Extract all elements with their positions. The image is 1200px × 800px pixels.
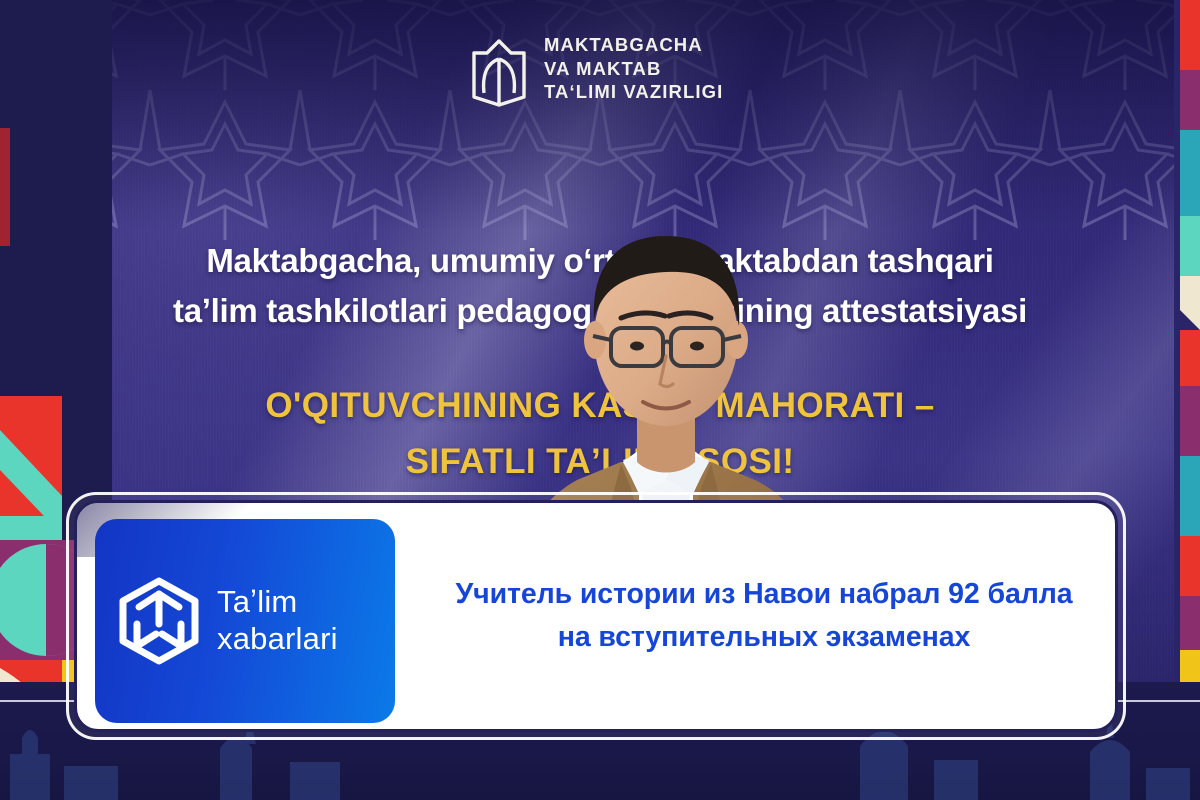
news-card-image: MAKTABGACHA VA MAKTAB TAʻLIMI VAZIRLIGI …	[0, 0, 1200, 800]
brand-tile[interactable]: Taʼlim xabarlari	[95, 519, 395, 723]
ministry-name: MAKTABGACHA VA MAKTAB TAʻLIMI VAZIRLIGI	[544, 33, 723, 104]
isometric-cube-icon	[117, 576, 201, 666]
ministry-line-3: TAʻLIMI VAZIRLIGI	[544, 80, 723, 104]
news-card-body: Taʼlim xabarlari Учитель истории из Наво…	[74, 500, 1118, 732]
news-headline: Учитель истории из Навои набрал 92 балла…	[425, 573, 1115, 659]
brand-line-2: xabarlari	[217, 621, 338, 658]
brand-name: Taʼlim xabarlari	[217, 584, 338, 657]
ministry-logo-lockup: MAKTABGACHA VA MAKTAB TAʻLIMI VAZIRLIGI	[470, 33, 723, 107]
open-book-leaf-icon	[470, 35, 528, 107]
ministry-line-2: VA MAKTAB	[544, 57, 723, 81]
brand-line-1: Taʼlim	[217, 584, 338, 621]
ministry-line-1: MAKTABGACHA	[544, 33, 723, 57]
news-card: Taʼlim xabarlari Учитель истории из Наво…	[66, 492, 1126, 740]
